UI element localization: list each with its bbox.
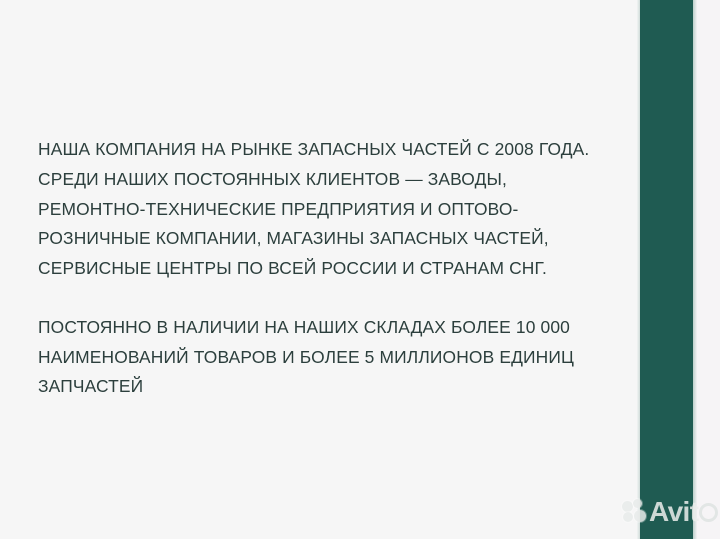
avito-watermark: Avit [622, 496, 718, 528]
far-right-margin [697, 0, 720, 539]
text-content-block: НАША КОМПАНИЯ НА РЫНКЕ ЗАПАСНЫХ ЧАСТЕЙ С… [38, 118, 618, 419]
avito-wordmark: Avit [649, 497, 698, 527]
slide-canvas: НАША КОМПАНИЯ НА РЫНКЕ ЗАПАСНЫХ ЧАСТЕЙ С… [0, 0, 720, 539]
avito-o-ring-icon [699, 503, 718, 522]
avito-circles-icon [622, 499, 648, 525]
paragraph-stock-info: ПОСТОЯННО В НАЛИЧИИ НА НАШИХ СКЛАДАХ БОЛ… [38, 313, 618, 402]
right-vertical-band [640, 0, 693, 539]
paragraph-company-intro: НАША КОМПАНИЯ НА РЫНКЕ ЗАПАСНЫХ ЧАСТЕЙ С… [38, 135, 618, 283]
